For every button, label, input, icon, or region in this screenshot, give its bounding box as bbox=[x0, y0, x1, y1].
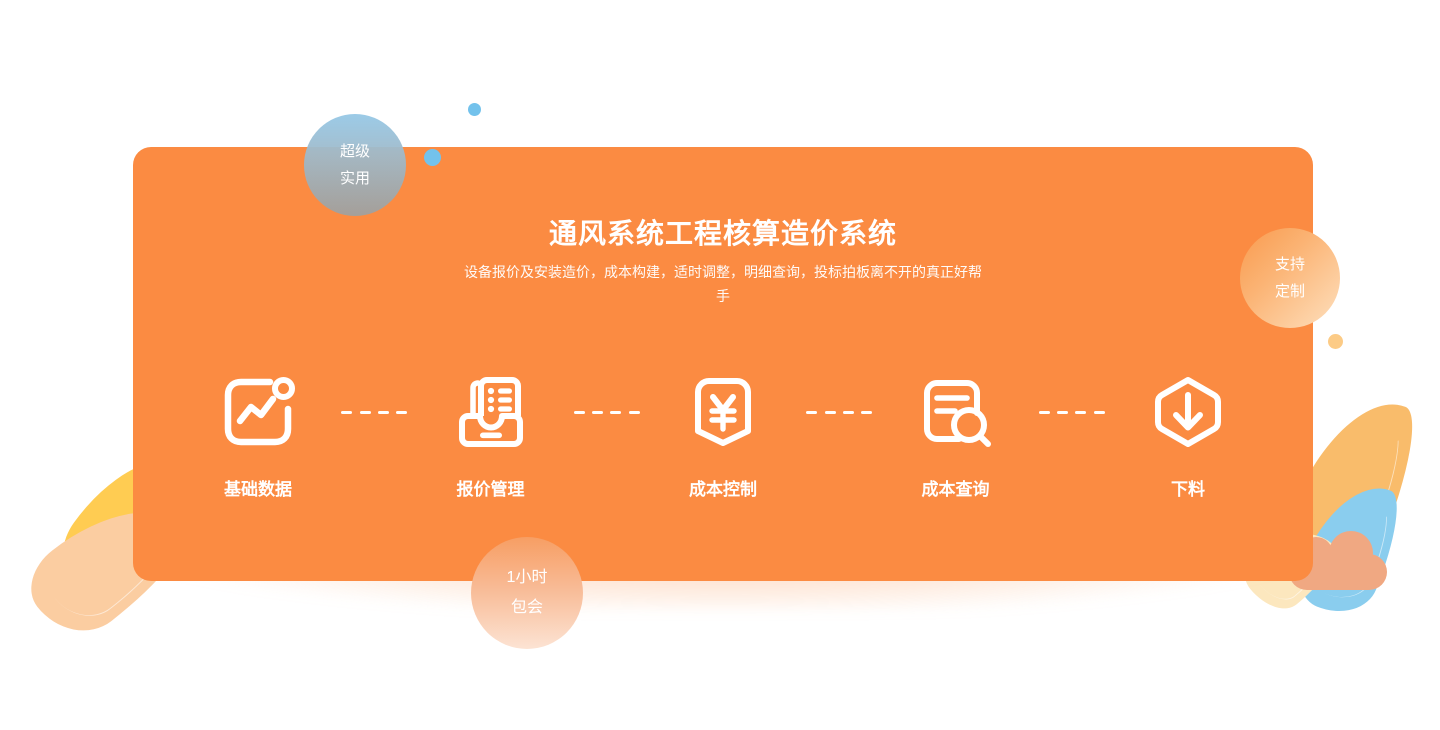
page-title: 通风系统工程核算造价系统 bbox=[133, 212, 1313, 252]
feature-item-base-data[interactable]: 基础数据 bbox=[193, 369, 323, 500]
inbox-documents-icon bbox=[448, 369, 534, 455]
dash bbox=[574, 411, 585, 414]
feature-label: 成本控制 bbox=[689, 475, 757, 500]
feature-label: 报价管理 bbox=[457, 475, 525, 500]
dash bbox=[360, 411, 371, 414]
feature-label: 基础数据 bbox=[224, 475, 292, 500]
feature-item-cost-query[interactable]: 成本查询 bbox=[891, 369, 1021, 500]
badge-line-2: 定制 bbox=[1275, 278, 1305, 305]
badge-one-hour-training[interactable]: 1小时 包会 bbox=[471, 537, 583, 649]
dash bbox=[629, 411, 640, 414]
badge-line-1: 支持 bbox=[1275, 251, 1305, 278]
dash bbox=[1039, 411, 1050, 414]
yuan-banner-icon bbox=[680, 369, 766, 455]
document-search-icon bbox=[913, 369, 999, 455]
chart-card-icon bbox=[215, 369, 301, 455]
connector-dashes-4 bbox=[1039, 411, 1105, 414]
badge-support-customization[interactable]: 支持 定制 bbox=[1240, 228, 1340, 328]
decorative-dot-blue-small bbox=[468, 103, 481, 116]
badge-line-2: 实用 bbox=[340, 165, 370, 192]
dash bbox=[396, 411, 407, 414]
dash bbox=[378, 411, 389, 414]
dash bbox=[592, 411, 603, 414]
connector-dashes-3 bbox=[806, 411, 872, 414]
feature-label: 下料 bbox=[1171, 475, 1205, 500]
dash bbox=[861, 411, 872, 414]
dash bbox=[1094, 411, 1105, 414]
feature-item-material-cutting[interactable]: 下料 bbox=[1123, 369, 1253, 500]
badge-line-1: 1小时 bbox=[507, 563, 548, 593]
feature-label: 成本查询 bbox=[922, 475, 990, 500]
decorative-dot-amber bbox=[1328, 334, 1343, 349]
dash bbox=[825, 411, 836, 414]
feature-strip: 基础数据 bbox=[193, 369, 1253, 500]
dash bbox=[341, 411, 352, 414]
dash bbox=[610, 411, 621, 414]
badge-line-2: 包会 bbox=[511, 593, 543, 623]
dash bbox=[806, 411, 817, 414]
badge-super-practical[interactable]: 超级 实用 bbox=[304, 114, 406, 216]
dash bbox=[843, 411, 854, 414]
page-root: 通风系统工程核算造价系统 设备报价及安装造价，成本构建，适时调整，明细查询，投标… bbox=[0, 0, 1440, 730]
feature-item-quote-management[interactable]: 报价管理 bbox=[426, 369, 556, 500]
dash bbox=[1075, 411, 1086, 414]
decorative-dot-blue-large bbox=[424, 149, 441, 166]
hexagon-download-icon bbox=[1145, 369, 1231, 455]
connector-dashes-1 bbox=[341, 411, 407, 414]
badge-line-1: 超级 bbox=[340, 138, 370, 165]
hero-card: 通风系统工程核算造价系统 设备报价及安装造价，成本构建，适时调整，明细查询，投标… bbox=[133, 147, 1313, 581]
page-subtitle: 设备报价及安装造价，成本构建，适时调整，明细查询，投标拍板离不开的真正好帮手 bbox=[463, 260, 983, 308]
connector-dashes-2 bbox=[574, 411, 640, 414]
dash bbox=[1057, 411, 1068, 414]
feature-item-cost-control[interactable]: 成本控制 bbox=[658, 369, 788, 500]
